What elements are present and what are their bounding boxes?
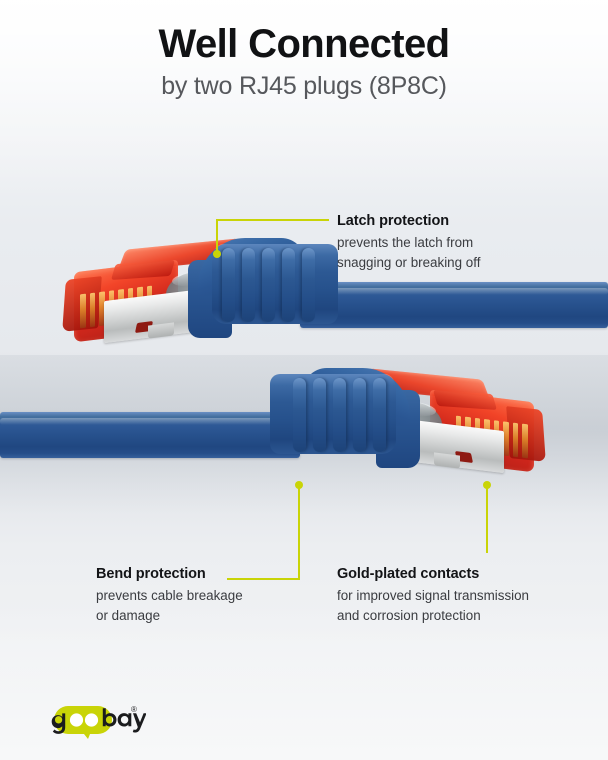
callout-gold-line2: and corrosion protection <box>337 606 529 625</box>
leader-line-gold-vertical <box>486 485 488 553</box>
infographic-canvas: Well Connected by two RJ45 plugs (8P8C) <box>0 0 608 760</box>
strain-relief-boot-lower <box>270 374 396 454</box>
logo-letter-y <box>133 713 146 732</box>
callout-gold-plated-contacts: Gold-plated contacts for improved signal… <box>337 565 529 625</box>
leader-line-latch-horizontal <box>216 219 329 221</box>
page-title: Well Connected <box>0 22 608 67</box>
leader-line-latch-vertical <box>216 219 218 253</box>
callout-bend-line1: prevents cable breakage <box>96 586 243 605</box>
leader-line-bend-vertical <box>298 485 300 579</box>
callout-latch-protection: Latch protection prevents the latch from… <box>337 212 480 272</box>
rj45-plug-upper <box>62 238 362 358</box>
callout-latch-line2: snagging or breaking off <box>337 253 480 272</box>
strain-relief-boot-upper <box>212 244 338 324</box>
rj45-plug-lower <box>246 368 546 488</box>
logo-trademark-symbol: ® <box>131 705 137 714</box>
header: Well Connected by two RJ45 plugs (8P8C) <box>0 22 608 101</box>
callout-bend-line2: or damage <box>96 606 243 625</box>
shield-tab-upper <box>148 322 174 338</box>
callout-bend-title: Bend protection <box>96 565 243 585</box>
logo-letter-o-first <box>70 713 83 726</box>
shield-tab-lower <box>434 452 460 468</box>
callout-gold-line1: for improved signal transmission <box>337 586 529 605</box>
callout-latch-title: Latch protection <box>337 212 480 232</box>
logo-letter-o-second <box>85 713 98 726</box>
callout-gold-title: Gold-plated contacts <box>337 565 529 585</box>
callout-bend-protection: Bend protection prevents cable breakage … <box>96 565 243 625</box>
callout-latch-line1: prevents the latch from <box>337 233 480 252</box>
leader-dot-latch <box>213 250 221 258</box>
logo-letter-a <box>118 713 132 726</box>
page-subtitle: by two RJ45 plugs (8P8C) <box>0 71 608 101</box>
